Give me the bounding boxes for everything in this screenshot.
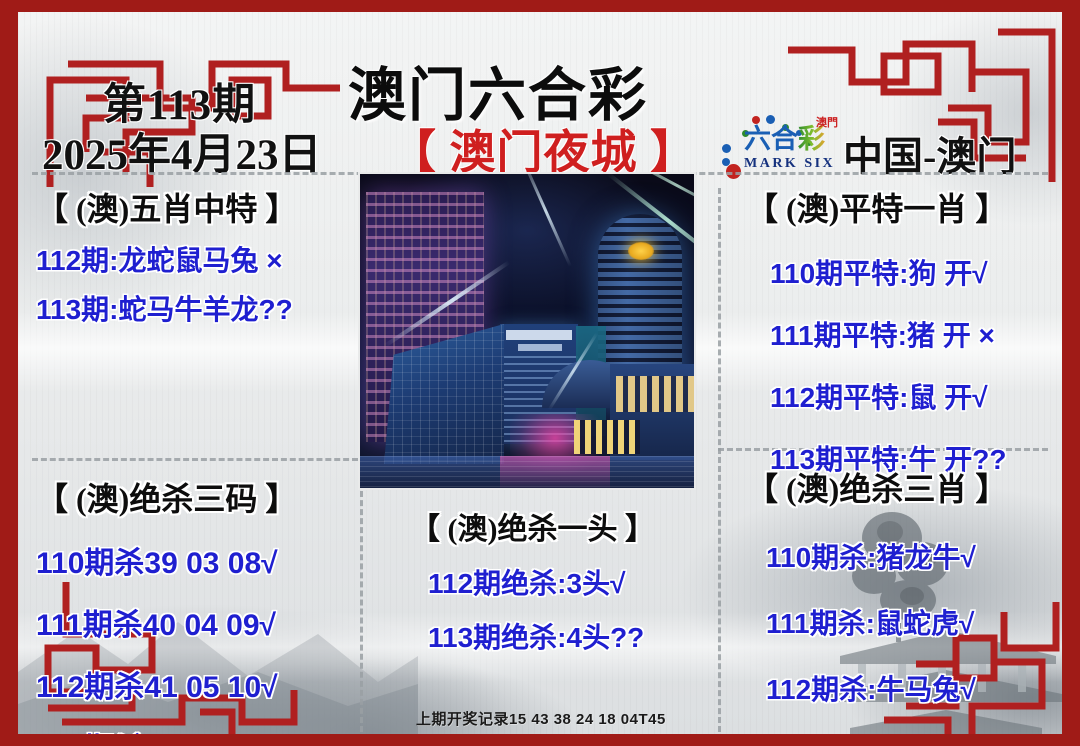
panel-row: 113期绝杀:4头?? [428,616,710,656]
panel-row: 112期杀:牛马兔√ [766,668,1062,708]
panel-title-five-zodiac: 【 (澳)五肖中特 】 [36,184,366,230]
panel-row: 112期绝杀:3头√ [428,562,710,602]
panel-kill-three-zodiac: 【 (澳)绝杀三肖 】 110期杀:猪龙牛√ 111期杀:鼠蛇虎√ 112期杀:… [746,464,1062,734]
poster-page: 第113期 2025年4月23日 澳门六合彩 【 澳门夜城 】 六合彩 澳門 [18,12,1062,734]
panel-flat-one-zodiac: 【 (澳)平特一肖 】 110期平特:狗 开√ 111期平特:猪 开 × 112… [746,184,1062,478]
panel-kill-three-numbers: 【 (澳)绝杀三码 】 110期杀39 03 08√ 111期杀40 04 09… [36,474,376,734]
logo-char-liu: 六 [744,124,771,154]
panel-row: 113期:蛇马牛羊龙?? [36,288,366,328]
panel-row: 112期杀41 05 10√ [36,662,376,706]
logo-macau-label: 澳門 [816,114,838,130]
panel-row: 111期杀40 04 09√ [36,600,376,644]
panel-row: 111期平特:猪 开 × [770,314,1062,354]
panel-row: 110期杀:猪龙牛√ [766,536,1062,576]
divider-vertical-right [718,188,721,732]
logo-char-he: 合 [771,124,798,154]
logo-chinese-name: 六合彩 [744,126,825,153]
previous-draw-record: 上期开奖记录15 43 38 24 18 04T45 [416,708,666,729]
logo-english-name: MARK SIX [744,156,835,172]
panel-row: 110期杀39 03 08√ [36,538,376,582]
panel-title-kill-three-zodiac: 【 (澳)绝杀三肖 】 [746,464,1062,510]
panel-title-kill-one-head: 【 (澳)绝杀一头 】 [410,504,710,548]
divider-left-middle [32,458,358,461]
mark-six-logo: 六合彩 澳門 MARK SIX [720,112,846,174]
panel-row: 112期平特:鼠 开√ [770,376,1062,416]
panel-row: 110期平特:狗 开√ [770,252,1062,292]
panel-title-kill-three-numbers: 【 (澳)绝杀三码 】 [36,474,376,520]
panel-kill-one-head: 【 (澳)绝杀一头 】 112期绝杀:3头√ 113期绝杀:4头?? [410,504,710,656]
poster-header: 第113期 2025年4月23日 澳门六合彩 【 澳门夜城 】 六合彩 澳門 [18,12,1062,170]
panel-title-flat-one-zodiac: 【 (澳)平特一肖 】 [746,184,1062,230]
lottery-poster: 第113期 2025年4月23日 澳门六合彩 【 澳门夜城 】 六合彩 澳門 [0,0,1080,746]
panel-row: 111期杀:鼠蛇虎√ [766,602,1062,642]
macau-night-photo [358,172,696,490]
panel-five-zodiac: 【 (澳)五肖中特 】 112期:龙蛇鼠马兔 × 113期:蛇马牛羊龙?? [36,184,366,328]
panel-row: 112期:龙蛇鼠马兔 × [36,239,366,279]
panel-row: 113期杀42 06 11?? [36,724,376,734]
